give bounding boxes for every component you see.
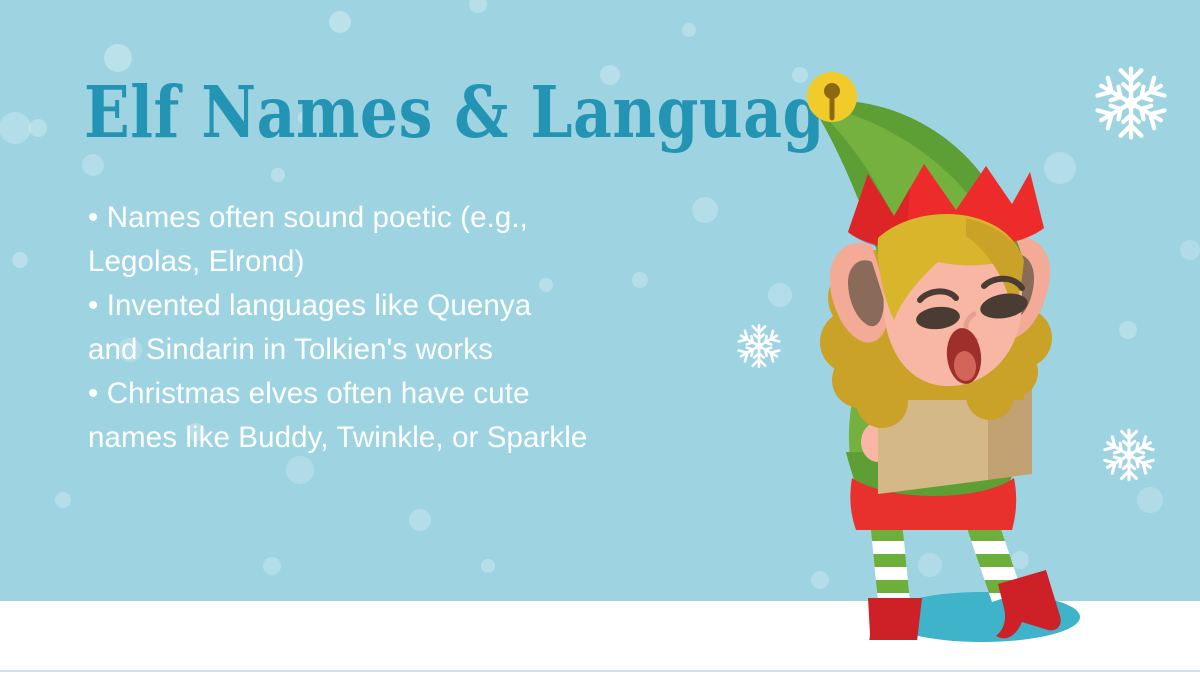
bullet-line: and Sindarin in Tolkien's works [88,328,728,372]
elf-illustration [760,50,1140,640]
bullet-line: • Christmas elves often have cute [88,372,728,416]
slide-canvas: Elf Names & Language • Names often sound… [0,0,1200,675]
bottom-divider-rule [0,670,1200,672]
elf-hat-bell [807,72,857,122]
bullet-list: • Names often sound poetic (e.g., Legola… [88,196,728,460]
page-title: Elf Names & Language [84,72,864,155]
bullet-line: Legolas, Elrond) [88,240,728,284]
bullet-line: names like Buddy, Twinkle, or Sparkle [88,416,728,460]
bullet-line: • Invented languages like Quenya [88,284,728,328]
bullet-line: • Names often sound poetic (e.g., [88,196,728,240]
